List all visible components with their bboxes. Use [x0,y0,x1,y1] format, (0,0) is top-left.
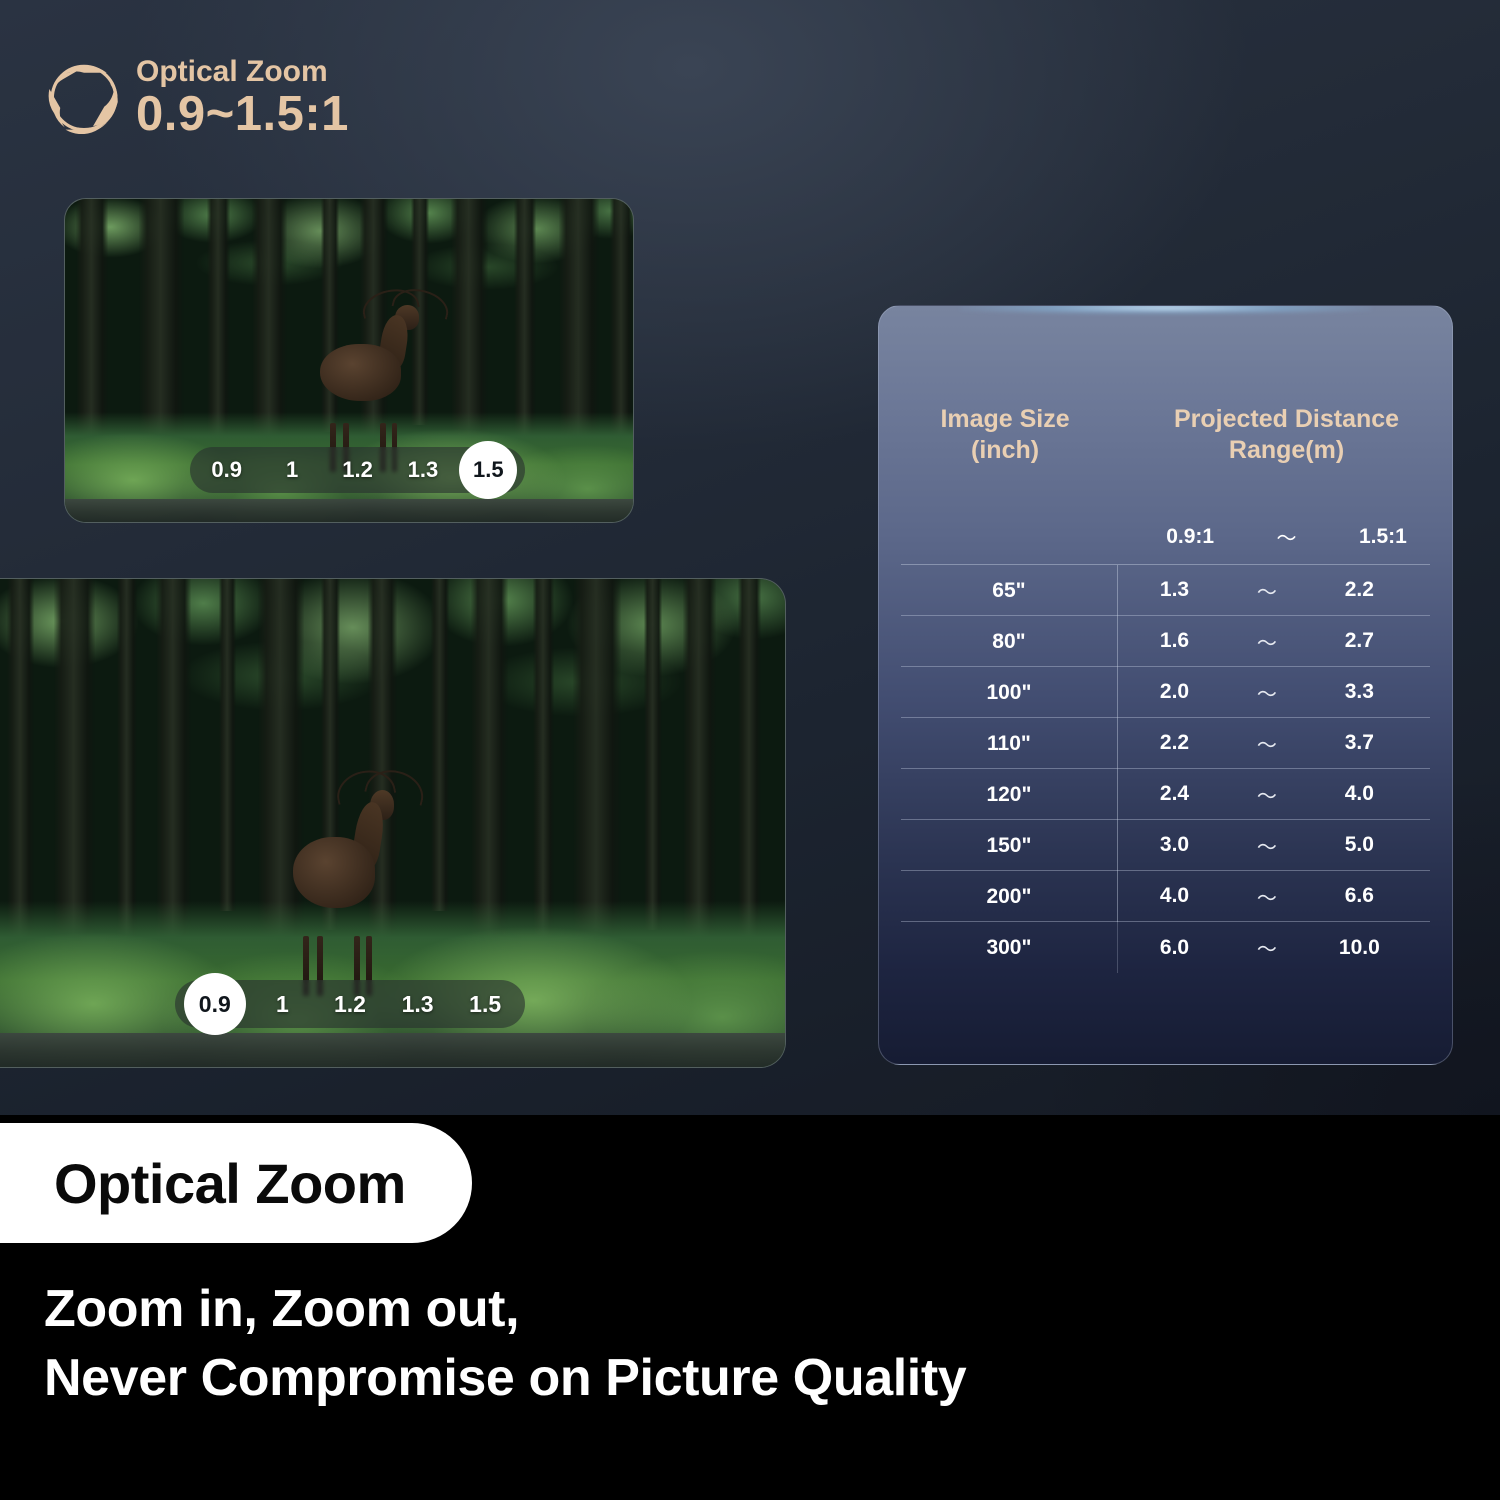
brand-zoom-ratio: 0.9~1.5:1 [136,90,349,139]
cell-distance-range: 2.0 ～ 3.3 [1118,678,1430,707]
subheader-tilde: ～ [1249,522,1324,551]
deer-subject [282,774,416,950]
cell-image-size: 150" [901,820,1118,871]
cell-max: 4.0 [1303,782,1416,806]
cell-distance-range: 1.6 ～ 2.7 [1118,627,1430,656]
cell-max: 3.7 [1303,731,1416,755]
cell-tilde: ～ [1231,729,1303,758]
table-row: 200" 4.0 ～ 6.6 [901,871,1430,922]
cell-min: 2.4 [1118,782,1231,806]
cell-min: 4.0 [1118,884,1231,908]
distance-line2: Range(m) [1131,435,1442,466]
pill-label: Optical Zoom [54,1151,406,1216]
zoom-tick-1.2[interactable]: 1.2 [325,459,390,481]
spec-table-header: Image Size (inch) Projected Distance Ran… [879,404,1452,465]
cell-distance-range: 2.2 ～ 3.7 [1118,729,1430,758]
cell-min: 2.0 [1118,680,1231,704]
brand-lockup: Optical Zoom 0.9~1.5:1 #brandtext > :fir… [48,57,349,139]
cell-image-size: 110" [901,718,1118,769]
spec-table-body: 65" 1.3 ～ 2.2 80" 1.6 ～ 2.7 100" 2.0 [901,564,1430,973]
cell-tilde: ～ [1231,678,1303,707]
cell-max: 10.0 [1303,936,1416,960]
table-row: 110" 2.2 ～ 3.7 [901,718,1430,769]
cell-tilde: ～ [1231,576,1303,605]
cell-distance-range: 3.0 ～ 5.0 [1118,831,1430,860]
tagline: Zoom in, Zoom out, Never Compromise on P… [44,1275,966,1412]
column-header-projected-distance: Projected Distance Range(m) [1131,404,1452,465]
subheader-max-ratio: 1.5:1 [1324,525,1442,549]
deer-subject [309,293,440,435]
zoom-tick-1.3[interactable]: 1.3 [384,993,452,1016]
cell-min: 6.0 [1118,936,1231,960]
card-top-glow [959,305,1372,314]
spec-table-card: Image Size (inch) Projected Distance Ran… [878,305,1453,1065]
brand-title: Optical Zoom [136,57,349,87]
cell-tilde: ～ [1231,933,1303,962]
zoom-tick-1[interactable]: 1 [249,993,317,1016]
hero-panel: Optical Zoom 0.9~1.5:1 #brandtext > :fir… [0,0,1500,1115]
cell-min: 1.3 [1118,578,1231,602]
table-row: 100" 2.0 ～ 3.3 [901,667,1430,718]
cell-tilde: ～ [1231,627,1303,656]
cell-tilde: ～ [1231,831,1303,860]
forest-path [65,499,633,522]
zoom-tick-1.5-active[interactable]: 1.5 [456,459,521,481]
column-header-image-size: Image Size (inch) [879,404,1131,465]
spec-table-subheader: 0.9:1 ～ 1.5:1 [1131,522,1452,551]
cell-min: 2.2 [1118,731,1231,755]
zoom-tick-1[interactable]: 1 [259,459,324,481]
cell-min: 3.0 [1118,833,1231,857]
table-row: 150" 3.0 ～ 5.0 [901,820,1430,871]
table-row: 120" 2.4 ～ 4.0 [901,769,1430,820]
cell-distance-range: 1.3 ～ 2.2 [1118,576,1430,605]
zoom-tick-1.3[interactable]: 1.3 [390,459,455,481]
cell-distance-range: 2.4 ～ 4.0 [1118,780,1430,809]
table-row: 65" 1.3 ～ 2.2 [901,565,1430,616]
optical-zoom-pill: Optical Zoom [0,1123,472,1243]
zoom-slider-top[interactable]: 0.9 1 1.2 1.3 1.5 [190,447,525,493]
table-row: 300" 6.0 ～ 10.0 [901,922,1430,973]
cell-max: 2.2 [1303,578,1416,602]
subheader-min-ratio: 0.9:1 [1131,525,1249,549]
zoom-slider-bottom[interactable]: 0.9 1 1.2 1.3 1.5 [175,980,525,1028]
zoom-tick-1.5[interactable]: 1.5 [451,993,519,1016]
cell-image-size: 80" [901,616,1118,667]
cell-max: 6.6 [1303,884,1416,908]
footer-band: Optical Zoom Zoom in, Zoom out, Never Co… [0,1115,1500,1500]
zoom-tick-1.2[interactable]: 1.2 [316,993,384,1016]
cell-image-size: 200" [901,871,1118,922]
brand-text-block: Optical Zoom 0.9~1.5:1 [136,57,349,139]
zoom-tick-0.9[interactable]: 0.9 [194,459,259,481]
cell-max: 5.0 [1303,833,1416,857]
image-size-line1: Image Size [879,404,1131,435]
zoom-tick-0.9-active[interactable]: 0.9 [181,993,249,1016]
distance-line1: Projected Distance [1131,404,1442,435]
cell-max: 2.7 [1303,629,1416,653]
image-size-line2: (inch) [879,435,1131,466]
cell-image-size: 65" [901,565,1118,616]
cell-distance-range: 6.0 ～ 10.0 [1118,933,1430,962]
cell-image-size: 120" [901,769,1118,820]
cell-max: 3.3 [1303,680,1416,704]
cell-tilde: ～ [1231,882,1303,911]
forest-path [0,1033,785,1067]
cell-distance-range: 4.0 ～ 6.6 [1118,882,1430,911]
cell-image-size: 100" [901,667,1118,718]
cell-image-size: 300" [901,922,1118,973]
table-row: 80" 1.6 ～ 2.7 [901,616,1430,667]
cell-tilde: ～ [1231,780,1303,809]
aperture-icon [48,62,120,134]
cell-min: 1.6 [1118,629,1231,653]
